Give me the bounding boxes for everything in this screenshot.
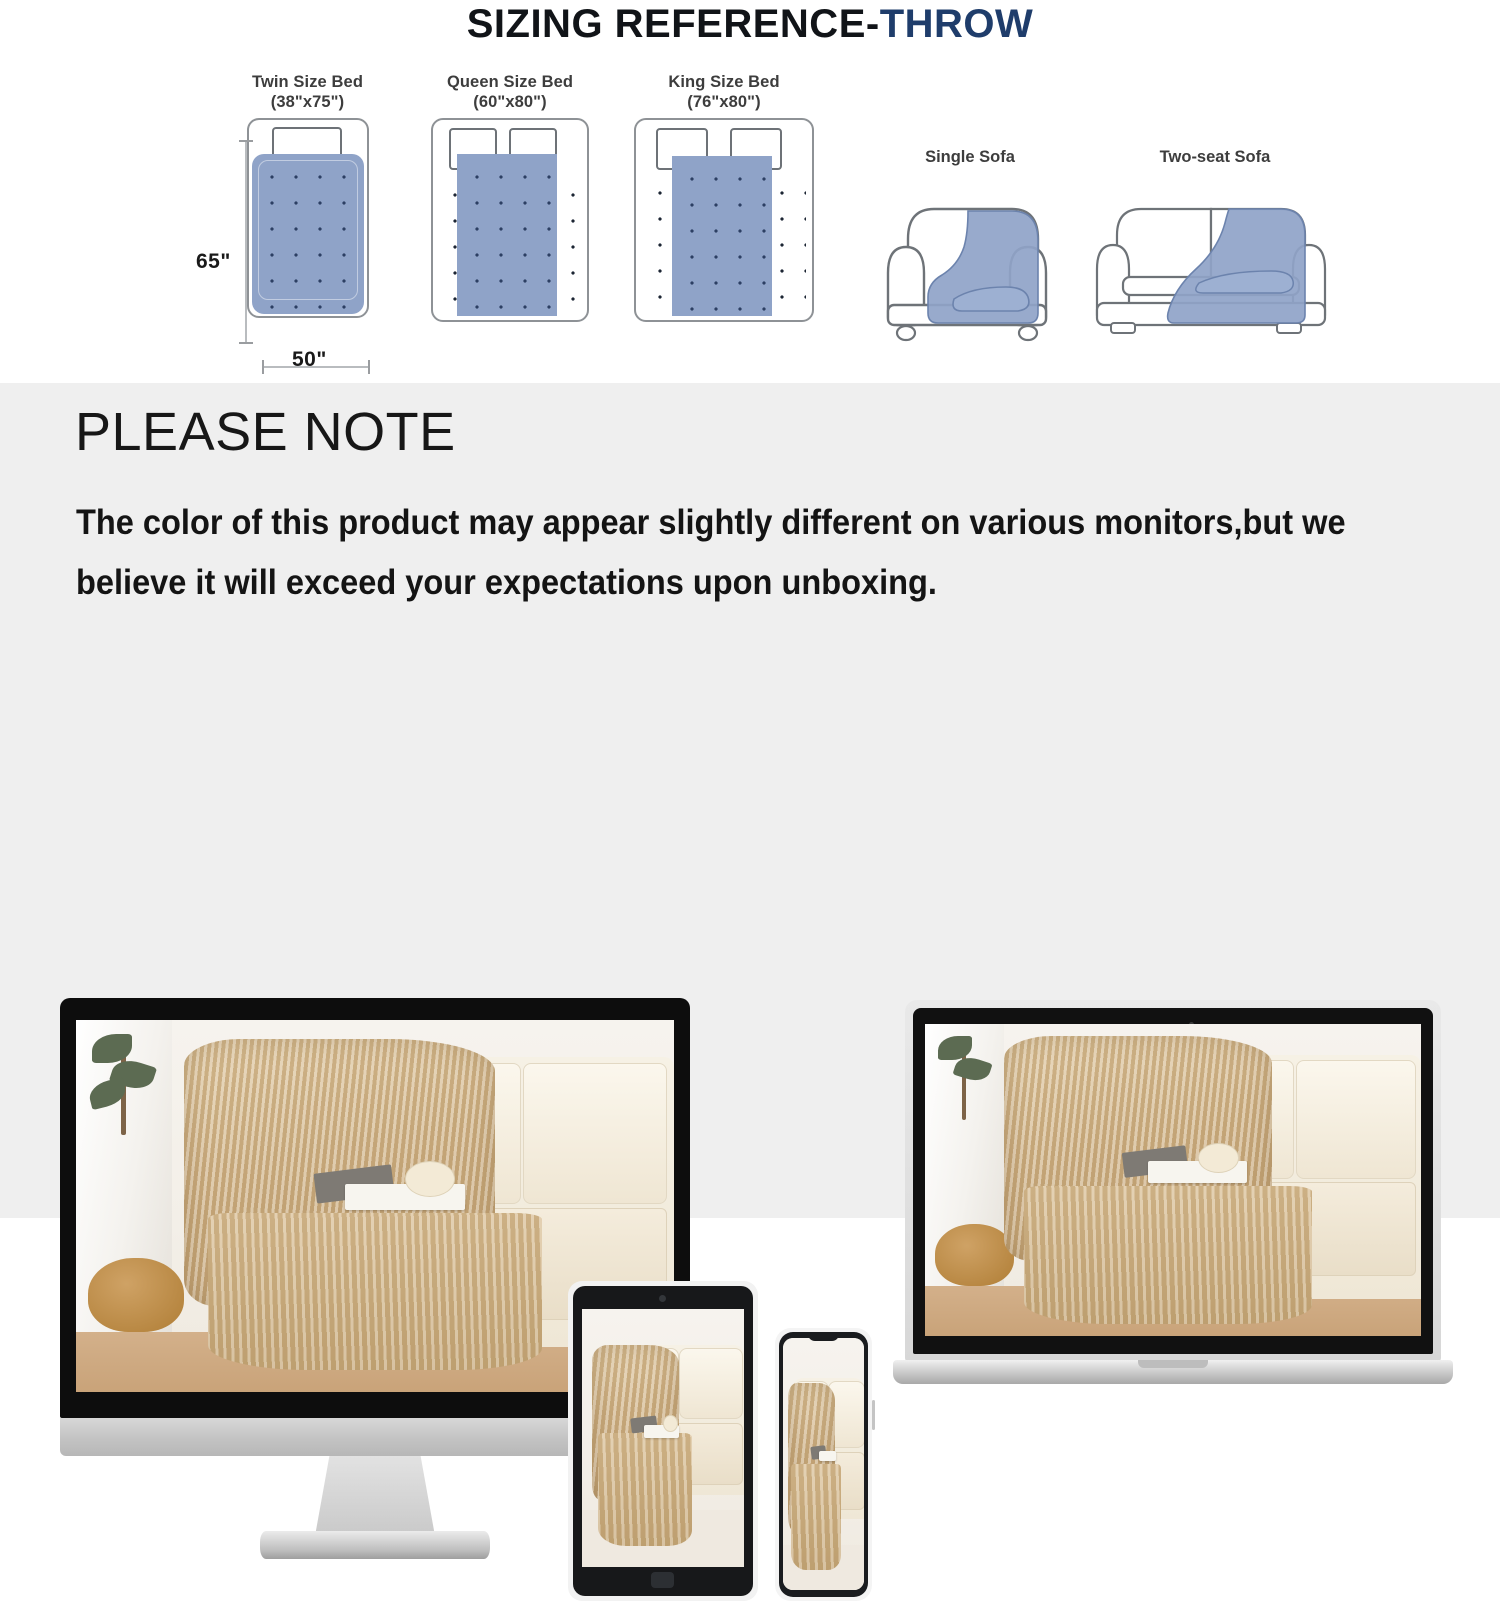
home-button[interactable] xyxy=(651,1572,674,1588)
photo-throw-drape xyxy=(1024,1186,1312,1323)
phone-notch xyxy=(808,1332,839,1341)
photo-cup xyxy=(1198,1143,1240,1173)
two-seat-sofa-illustration xyxy=(1095,177,1330,347)
photo-woven-basket xyxy=(88,1258,184,1332)
page-title: SIZING REFERENCE-THROW xyxy=(0,2,1500,47)
king-bed-dimensions: (76"x80") xyxy=(615,92,833,112)
photo-woven-basket xyxy=(935,1224,1014,1286)
king-bed-name: King Size Bed xyxy=(668,73,779,91)
blanket-dot-pattern xyxy=(672,156,772,316)
two-seat-sofa-label: Two-seat Sofa xyxy=(1095,148,1335,167)
twin-bed-label: Twin Size Bed (38"x75") xyxy=(215,72,400,112)
sofa-foot-left xyxy=(897,326,915,340)
monitor-stand-neck xyxy=(315,1456,435,1536)
king-bed-illustration xyxy=(634,118,814,322)
king-bed-group: King Size Bed (76"x80") xyxy=(615,72,833,322)
photo-plant xyxy=(88,1027,160,1139)
note-heading: PLEASE NOTE xyxy=(75,401,456,463)
phone-screen-photo xyxy=(783,1338,864,1590)
blanket-dot-pattern xyxy=(252,154,364,314)
twin-bed-group: Twin Size Bed (38"x75") xyxy=(215,72,400,318)
queen-bed-name: Queen Size Bed xyxy=(447,73,573,91)
twin-bed-dimensions: (38"x75") xyxy=(215,92,400,112)
photo-throw-drape xyxy=(598,1433,692,1547)
photo-open-book xyxy=(819,1451,837,1461)
king-bed-label: King Size Bed (76"x80") xyxy=(615,72,833,112)
twin-bed-name: Twin Size Bed xyxy=(252,73,363,91)
page-title-accent: THROW xyxy=(880,2,1034,46)
bed-dot-pattern-right xyxy=(766,174,806,316)
tablet-screen-photo xyxy=(582,1309,744,1567)
plant-leaf xyxy=(92,1034,132,1063)
photo-plant xyxy=(935,1030,995,1124)
photo-cup xyxy=(405,1161,455,1196)
sofa-back-cushion xyxy=(679,1348,743,1419)
page-title-main: SIZING REFERENCE- xyxy=(467,2,880,46)
photo-cup xyxy=(663,1415,678,1432)
throw-blanket xyxy=(252,154,364,314)
please-note-section: PLEASE NOTE The color of this product ma… xyxy=(0,383,1500,1218)
sofa-foot-right xyxy=(1277,323,1301,333)
height-measure-label: 65" xyxy=(196,250,231,274)
sizing-reference-section: SIZING REFERENCE-THROW Twin Size Bed (38… xyxy=(0,0,1500,383)
front-camera-icon xyxy=(659,1295,666,1302)
throw-blanket xyxy=(457,154,557,316)
queen-bed-illustration xyxy=(431,118,589,322)
queen-bed-label: Queen Size Bed (60"x80") xyxy=(410,72,610,112)
width-guide-cap-left xyxy=(262,360,264,374)
sofa-back-cushion xyxy=(1296,1060,1416,1179)
laptop-mockup xyxy=(893,1000,1453,1400)
two-seat-sofa-group: Two-seat Sofa xyxy=(1095,148,1335,352)
sofa-foot-right xyxy=(1019,326,1037,340)
width-guide-cap-right xyxy=(368,360,370,374)
queen-bed-group: Queen Size Bed (60"x80") xyxy=(410,72,610,322)
sofa-foot-left xyxy=(1111,323,1135,333)
photo-throw-drape xyxy=(208,1213,543,1369)
single-sofa-label: Single Sofa xyxy=(880,148,1060,167)
monitor-stand-base xyxy=(260,1531,490,1559)
bed-dot-pattern-right xyxy=(557,176,583,316)
height-guide-cap-bottom xyxy=(239,342,253,344)
height-guide-cap-top xyxy=(239,140,253,142)
width-measure-label: 50" xyxy=(292,348,327,372)
laptop-screen-photo xyxy=(925,1024,1421,1336)
single-sofa-illustration xyxy=(880,177,1055,347)
laptop-latch-notch xyxy=(1138,1360,1208,1368)
queen-bed-dimensions: (60"x80") xyxy=(410,92,610,112)
photo-throw-drape xyxy=(791,1464,841,1570)
single-sofa-group: Single Sofa xyxy=(880,148,1060,352)
note-body-text: The color of this product may appear sli… xyxy=(76,493,1378,613)
blanket-dot-pattern xyxy=(457,154,557,316)
smartphone-mockup xyxy=(775,1328,872,1601)
height-guide-line xyxy=(245,140,247,344)
sofa-back-cushion xyxy=(523,1063,667,1204)
throw-blanket xyxy=(672,156,772,316)
plant-leaf xyxy=(938,1036,971,1060)
phone-side-button[interactable] xyxy=(872,1400,875,1430)
twin-bed-illustration xyxy=(247,118,369,318)
tablet-mockup xyxy=(568,1281,758,1601)
